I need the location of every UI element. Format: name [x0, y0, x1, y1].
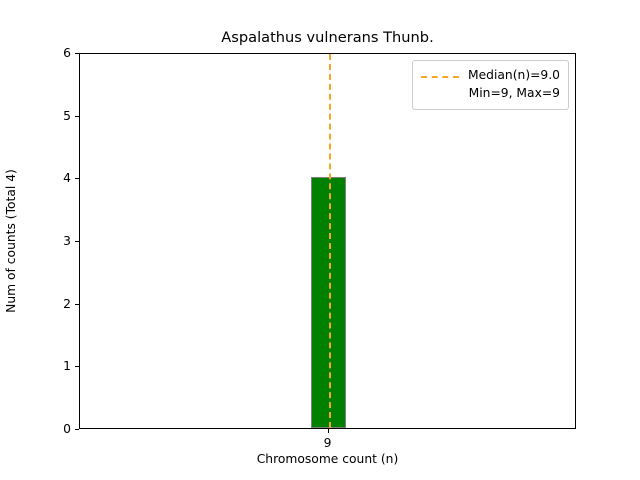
legend-label-median: Median(n)=9.0 — [468, 67, 560, 85]
x-axis-label: Chromosome count (n) — [79, 452, 576, 466]
y-tick-label: 2 — [63, 297, 71, 311]
y-tick-label: 4 — [63, 171, 71, 185]
y-tick-mark — [75, 241, 79, 242]
x-tick-label: 9 — [324, 436, 332, 450]
y-tick-label: 6 — [63, 46, 71, 60]
y-tick-mark — [75, 53, 79, 54]
legend-label-minmax: Min=9, Max=9 — [468, 85, 560, 103]
figure-canvas: Aspalathus vulnerans Thunb. 0123456 9 Ch… — [0, 0, 640, 480]
bars-layer — [80, 54, 575, 428]
y-tick-label: 0 — [63, 422, 71, 436]
legend-dashed-line-icon — [421, 76, 459, 78]
y-axis-label: Num of counts (Total 4) — [0, 53, 22, 429]
y-tick-mark — [75, 178, 79, 179]
y-tick-label: 3 — [63, 234, 71, 248]
y-tick-mark — [75, 304, 79, 305]
y-tick-label: 5 — [63, 109, 71, 123]
y-tick-mark — [75, 366, 79, 367]
x-tick-mark — [328, 429, 329, 433]
page-title: Aspalathus vulnerans Thunb. — [79, 29, 576, 47]
y-tick-label: 1 — [63, 359, 71, 373]
median-line — [329, 54, 331, 428]
legend-labels: Median(n)=9.0 Min=9, Max=9 — [468, 67, 560, 102]
y-tick-mark — [75, 116, 79, 117]
legend: Median(n)=9.0 Min=9, Max=9 — [412, 60, 569, 110]
